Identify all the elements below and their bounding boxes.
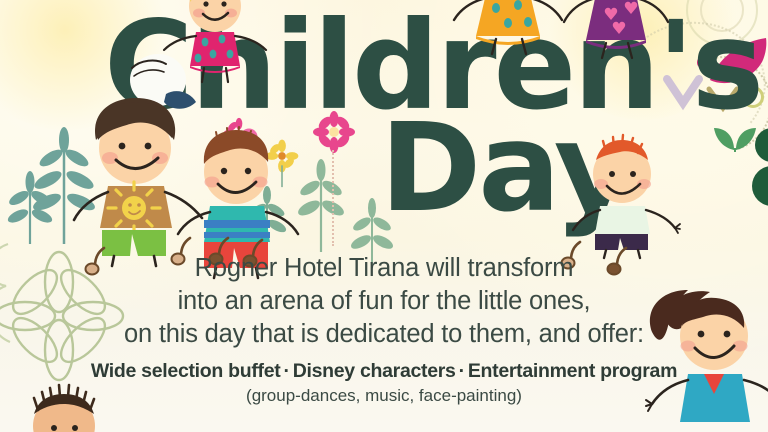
offers-detail: (group-dances, music, face-painting) — [0, 386, 768, 406]
circle-decor-olive — [742, 86, 764, 108]
offers-line: Wide selection buffet·Disney characters·… — [0, 360, 768, 383]
child-girl-purple-dress — [560, 0, 670, 58]
body-line-2: into an arena of fun for the little ones… — [0, 285, 768, 318]
chevron-decor-olive — [706, 86, 740, 112]
body-line-1: Rogner Hotel Tirana will transform — [0, 252, 768, 285]
offer-item-disney: Disney characters — [293, 360, 456, 382]
body-line-3: on this day that is dedicated to them, a… — [0, 318, 768, 351]
childrens-day-poster: Children's Day — [0, 0, 768, 432]
offer-separator-2: · — [456, 360, 468, 382]
offer-item-entertainment: Entertainment program — [468, 360, 677, 382]
child-boy-redhair — [570, 134, 680, 258]
green-circle-decor-2 — [752, 166, 768, 206]
child-girl-yellow-dress — [452, 0, 564, 54]
chevron-decor-lilac — [663, 76, 703, 108]
sprout-decor — [712, 118, 758, 152]
poster-body-copy: Rogner Hotel Tirana will transform into … — [0, 252, 768, 406]
offer-item-buffet: Wide selection buffet — [91, 360, 281, 382]
flower-dotted-stem — [332, 150, 334, 246]
offer-separator-1: · — [280, 360, 292, 382]
pink-flower-icon — [316, 114, 352, 150]
